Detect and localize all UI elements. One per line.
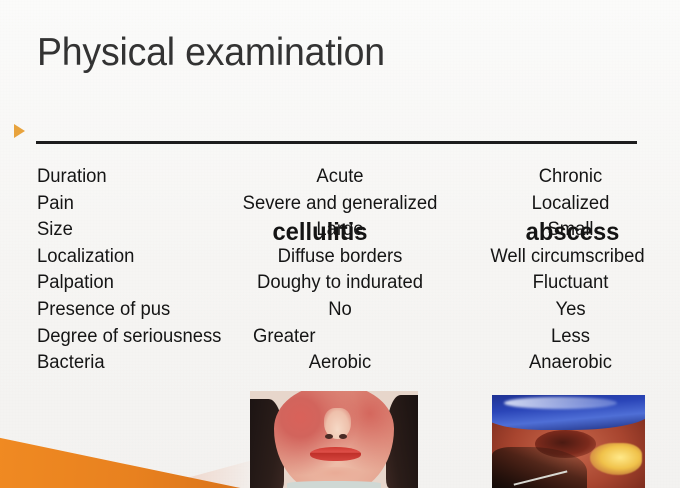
cell-abscess: Chronic [471, 164, 670, 190]
corner-accent-dark [0, 440, 250, 488]
face-lips [310, 447, 360, 461]
photo-abscess [492, 395, 645, 488]
cell-cellulitis: Severe and generalized [185, 191, 495, 217]
table-row: Palpation Doughy to indurated Fluctuant [0, 270, 680, 297]
row-label: Bacteria [37, 350, 105, 376]
face-nostril-left [325, 434, 333, 439]
cell-abscess: Anaerobic [471, 350, 670, 376]
page-title: Physical examination [37, 30, 385, 76]
photo-abscess-content [492, 395, 645, 488]
cell-abscess: Yes [471, 297, 670, 323]
presentation-slide: Physical examination cellulitis abscess … [0, 0, 680, 488]
table-row: Size Large Small [0, 217, 680, 244]
row-label: Duration [37, 164, 107, 190]
table-header-row: cellulitis abscess [0, 109, 680, 141]
comparison-table: Duration Acute Chronic Pain Severe and g… [0, 164, 680, 377]
row-label: Palpation [37, 270, 114, 296]
table-row: Presence of pus No Yes [0, 297, 680, 324]
row-label: Pain [37, 191, 74, 217]
table-row: Pain Severe and generalized Localized [0, 191, 680, 218]
row-label: Localization [37, 244, 134, 270]
cell-cellulitis: Doughy to indurated [185, 270, 495, 296]
cell-abscess: Well circumscribed [463, 244, 672, 270]
corner-accent-orange [0, 432, 250, 488]
corner-accent-decoration [0, 428, 250, 488]
row-label: Degree of seriousness [37, 324, 221, 350]
cell-abscess: Fluctuant [471, 270, 670, 296]
cell-abscess: Less [471, 324, 670, 350]
corner-accent-blush [150, 454, 250, 488]
cell-cellulitis: Acute [185, 164, 495, 190]
row-label: Size [37, 217, 73, 243]
face-chin [307, 467, 364, 483]
table-row: Duration Acute Chronic [0, 164, 680, 191]
cell-cellulitis: Large [185, 217, 495, 243]
table-row: Localization Diffuse borders Well circum… [0, 244, 680, 271]
cell-abscess: Localized [471, 191, 670, 217]
cell-cellulitis: Diffuse borders [195, 244, 486, 270]
cell-cellulitis: Aerobic [185, 350, 495, 376]
row-label: Presence of pus [37, 297, 170, 323]
header-divider [36, 141, 637, 144]
cell-abscess: Small [471, 217, 670, 243]
photo-cellulitis [250, 391, 418, 488]
face-collar [287, 481, 381, 488]
cell-cellulitis: Greater [253, 324, 447, 350]
cell-cellulitis: No [185, 297, 495, 323]
table-row: Bacteria Aerobic Anaerobic [0, 350, 680, 377]
surgical-drape-highlight [504, 397, 617, 409]
photo-cellulitis-content [250, 391, 418, 488]
table-row: Degree of seriousness Greater Less [0, 324, 680, 351]
